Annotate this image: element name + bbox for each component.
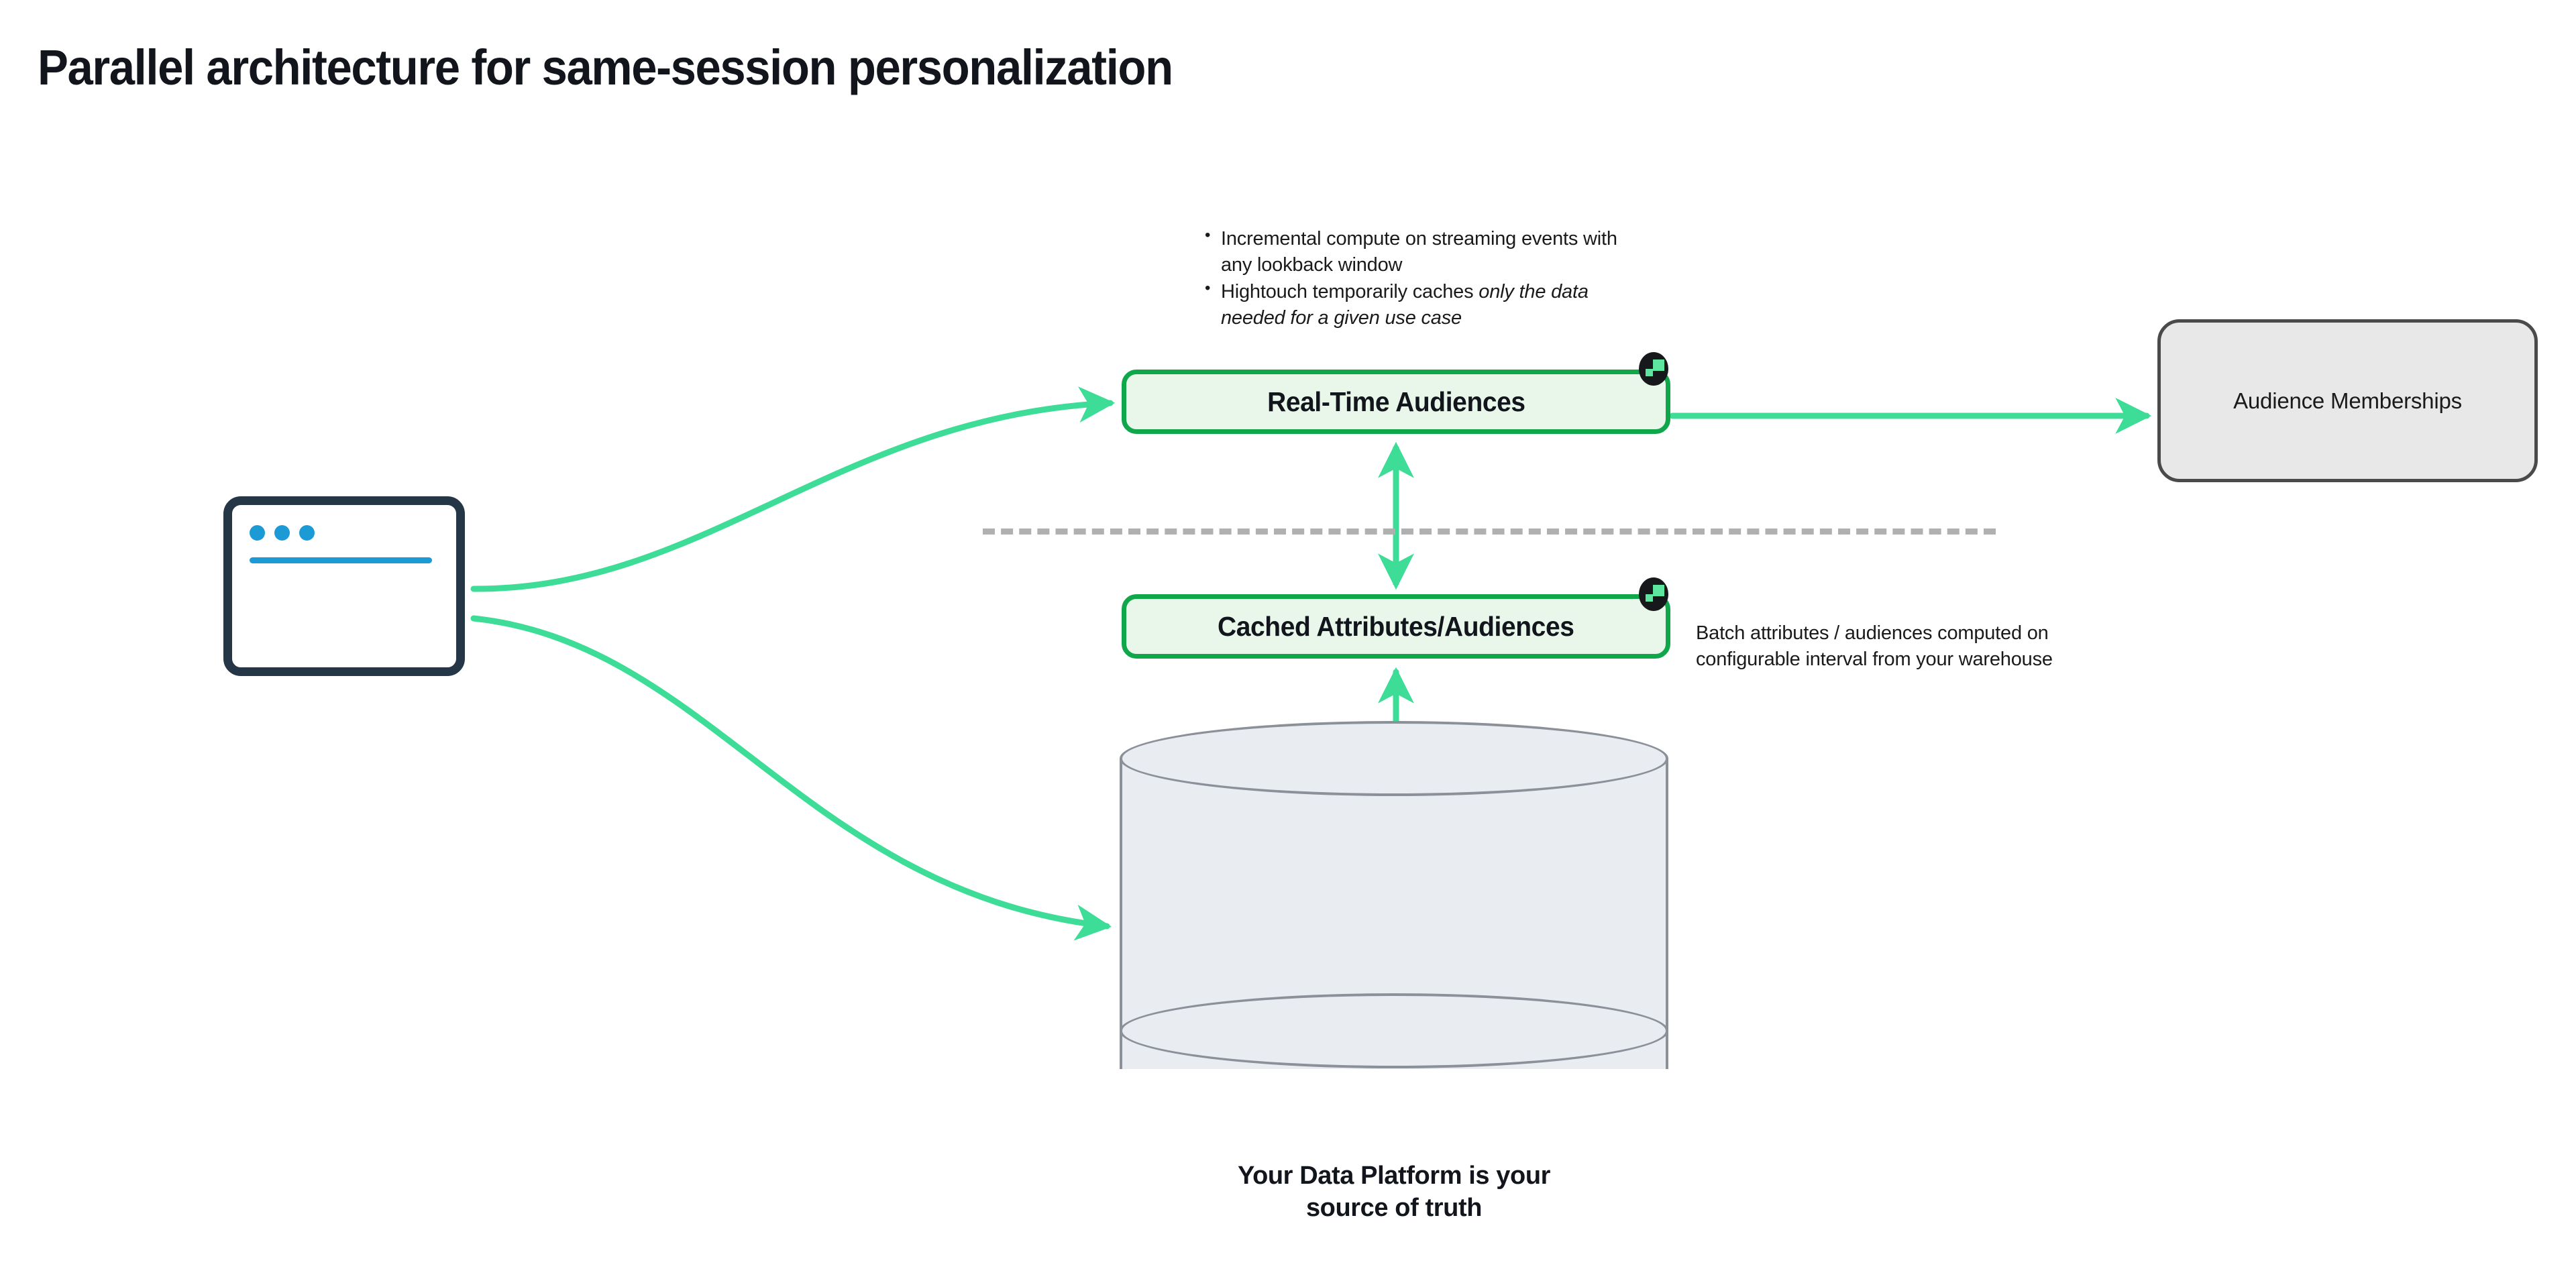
hightouch-logo-square-large [1653, 359, 1664, 371]
realtime-bullet-2-text: Hightouch temporarily caches [1221, 281, 1479, 302]
hightouch-logo-square-large [1653, 585, 1664, 596]
browser-dot-1 [250, 525, 265, 541]
node-real-time-audiences[interactable]: Real-Time Audiences [1122, 370, 1670, 434]
connector-browser-to-realtime [474, 403, 1110, 589]
node-cached-attributes-audiences[interactable]: Cached Attributes/Audiences [1122, 594, 1670, 659]
node-real-time-audiences-label: Real-Time Audiences [1267, 386, 1525, 418]
data-platform-caption-line-1: Your Data Platform is your [1120, 1160, 1668, 1192]
diagram-canvas: Parallel architecture for same-session p… [0, 0, 2576, 1283]
realtime-annotation-list: Incremental compute on streaming events … [1201, 226, 1630, 332]
browser-window-icon [223, 496, 465, 676]
browser-url-bar [250, 557, 432, 563]
data-platform-caption-line-2: source of truth [1120, 1192, 1668, 1225]
batch-annotation-line-1: Batch attributes / audiences computed on [1696, 620, 2165, 647]
realtime-batch-divider [983, 528, 1996, 535]
node-audience-memberships-label: Audience Memberships [2233, 388, 2462, 414]
data-platform-cylinder [1120, 721, 1668, 1107]
browser-dot-3 [299, 525, 315, 541]
data-platform-caption: Your Data Platform is your source of tru… [1120, 1160, 1668, 1224]
cylinder-bottom-ellipse [1120, 993, 1668, 1068]
node-audience-memberships[interactable]: Audience Memberships [2157, 319, 2538, 482]
connector-browser-to-data-platform [474, 618, 1107, 926]
cylinder-top-ellipse [1120, 721, 1668, 796]
browser-dot-2 [274, 525, 290, 541]
batch-annotation-line-2: configurable interval from your warehous… [1696, 647, 2165, 673]
hightouch-logo-square-small [1646, 369, 1653, 376]
hightouch-logo-square-small [1646, 594, 1653, 602]
realtime-bullet-1: Incremental compute on streaming events … [1201, 226, 1630, 278]
realtime-bullet-1-text: Incremental compute on streaming events … [1221, 228, 1617, 276]
hightouch-logo-icon [1639, 352, 1668, 386]
hightouch-logo-icon [1639, 577, 1668, 611]
batch-annotation: Batch attributes / audiences computed on… [1696, 620, 2165, 672]
realtime-bullet-2: Hightouch temporarily caches only the da… [1201, 279, 1630, 331]
browser-traffic-light-dots [250, 525, 315, 541]
node-cached-attributes-audiences-label: Cached Attributes/Audiences [1218, 611, 1574, 643]
